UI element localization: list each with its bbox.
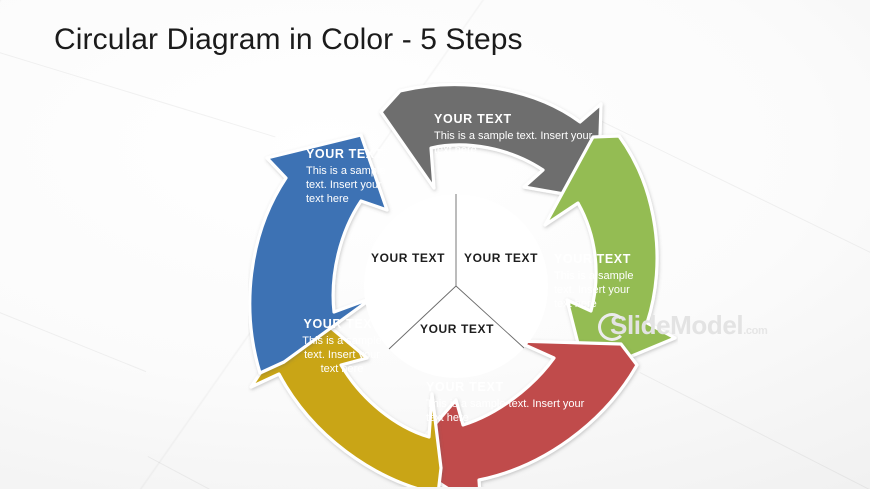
slide-canvas: Circular Diagram in Color - 5 Steps xyxy=(0,0,870,489)
segment-shape-blue[interactable] xyxy=(250,135,387,373)
page-title: Circular Diagram in Color - 5 Steps xyxy=(54,23,523,57)
background-hairline xyxy=(0,300,146,372)
circular-diagram-svg xyxy=(248,82,678,487)
circular-diagram: SlideModel.com YOUR TEXT This is a sampl… xyxy=(248,82,678,487)
watermark-suffix: .com xyxy=(743,325,767,337)
